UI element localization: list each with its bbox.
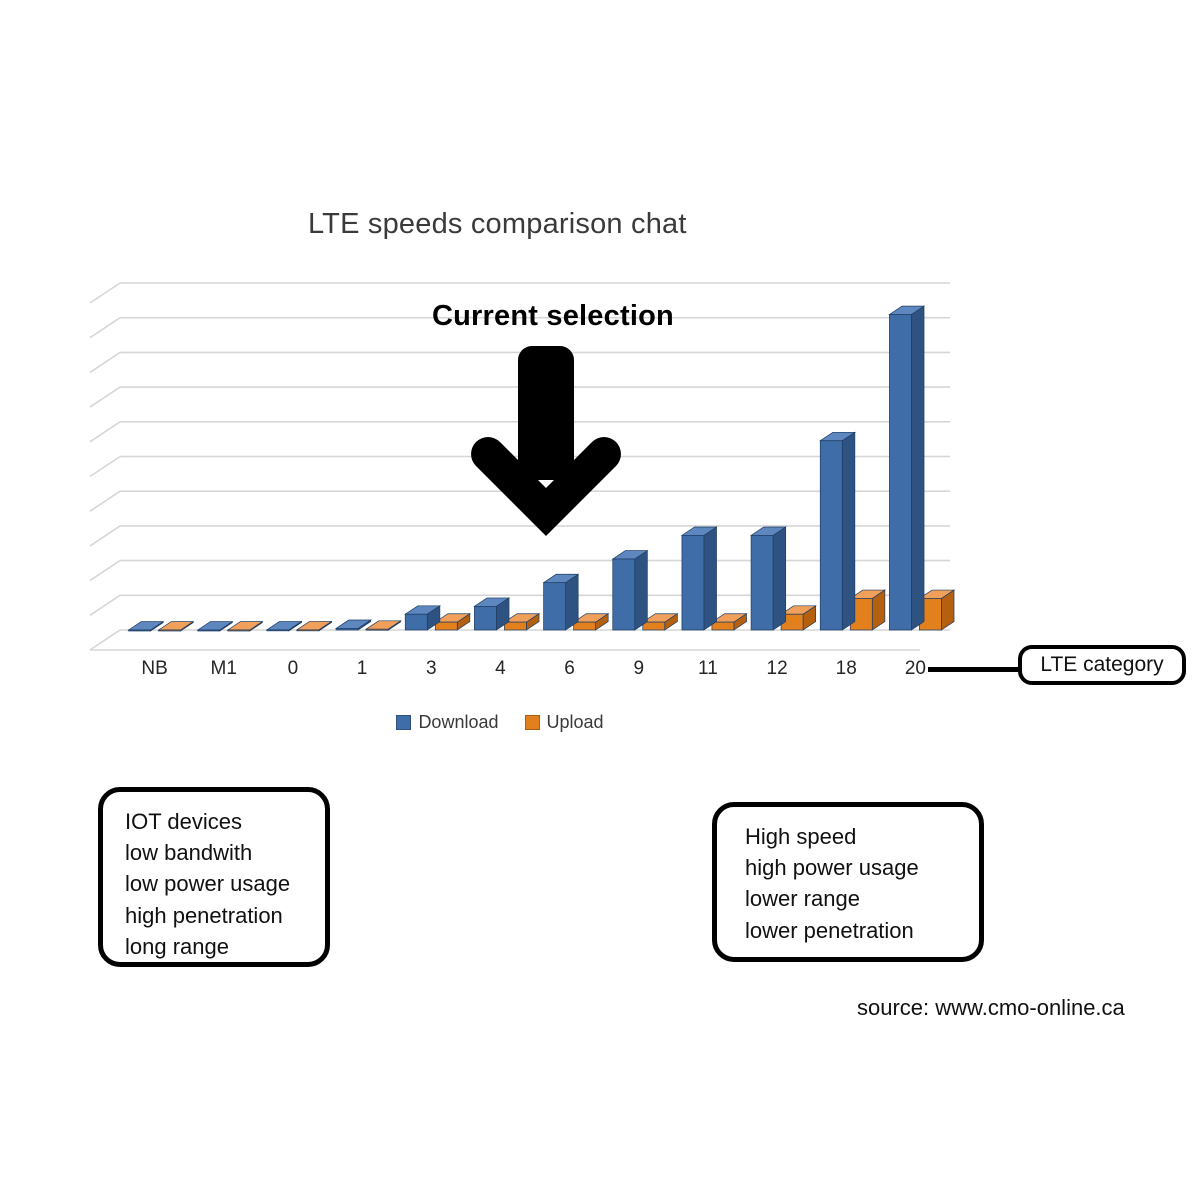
- category-label-6: 6: [535, 658, 605, 680]
- lte-category-text: LTE category: [1040, 650, 1163, 680]
- highspeed-callout-line: lower range: [745, 883, 979, 914]
- bar-download-20: [889, 306, 924, 630]
- category-label-18: 18: [811, 658, 881, 680]
- chart-canvas: LTE speeds comparison chat NBM1013469111…: [0, 0, 1200, 1200]
- iot-callout-line: low bandwith: [125, 837, 325, 868]
- category-label-NB: NB: [120, 658, 190, 680]
- legend-swatch-download-icon: [396, 715, 411, 730]
- category-label-11: 11: [673, 658, 743, 680]
- highspeed-callout-line: high power usage: [745, 852, 979, 883]
- highspeed-callout-line: High speed: [745, 821, 979, 852]
- category-label-0: 0: [258, 658, 328, 680]
- bar-download-1: [336, 620, 371, 630]
- category-axis-labels: NBM101346911121820: [88, 658, 968, 692]
- bar-download-12: [751, 527, 786, 630]
- bar-download-11: [682, 527, 717, 630]
- category-label-M1: M1: [189, 658, 259, 680]
- chart-legend: DownloadUpload: [0, 712, 1000, 733]
- category-label-12: 12: [742, 658, 812, 680]
- bar-upload-3: [435, 614, 470, 630]
- bar-upload-12: [781, 606, 816, 630]
- iot-callout-line: high penetration: [125, 900, 325, 931]
- category-label-9: 9: [604, 658, 674, 680]
- legend-label: Upload: [547, 712, 604, 733]
- legend-item-upload[interactable]: Upload: [525, 712, 604, 733]
- highspeed-callout-line: lower penetration: [745, 915, 979, 946]
- bar-upload-1: [366, 621, 401, 630]
- page-title: LTE speeds comparison chat: [308, 208, 687, 241]
- bar-upload-9: [643, 614, 678, 630]
- bar-download-6: [544, 574, 579, 630]
- iot-characteristics-callout: IOT deviceslow bandwithlow power usagehi…: [98, 787, 330, 967]
- highspeed-characteristics-callout: High speedhigh power usagelower rangelow…: [712, 802, 984, 962]
- bar-download-4: [474, 598, 509, 630]
- down-arrow-icon: [470, 338, 622, 540]
- bar-upload-4: [504, 614, 539, 630]
- iot-callout-line: IOT devices: [125, 806, 325, 837]
- legend-label: Download: [418, 712, 498, 733]
- lte-category-leader-line: [928, 667, 1020, 672]
- bar-upload-18: [850, 590, 885, 630]
- category-label-1: 1: [327, 658, 397, 680]
- legend-item-download[interactable]: Download: [396, 712, 498, 733]
- bar-upload-20: [919, 590, 954, 630]
- iot-callout-line: low power usage: [125, 868, 325, 899]
- source-text: source: www.cmo-online.ca: [857, 995, 1125, 1021]
- category-label-4: 4: [465, 658, 535, 680]
- bar-download-9: [613, 551, 648, 630]
- lte-category-callout: LTE category: [1018, 645, 1186, 685]
- bar-download-3: [405, 606, 440, 630]
- bar-upload-6: [574, 614, 609, 630]
- legend-swatch-upload-icon: [525, 715, 540, 730]
- category-label-3: 3: [396, 658, 466, 680]
- bar-upload-11: [712, 614, 747, 630]
- current-selection-label: Current selection: [432, 300, 674, 333]
- iot-callout-line: long range: [125, 931, 325, 962]
- bar-download-18: [820, 432, 855, 630]
